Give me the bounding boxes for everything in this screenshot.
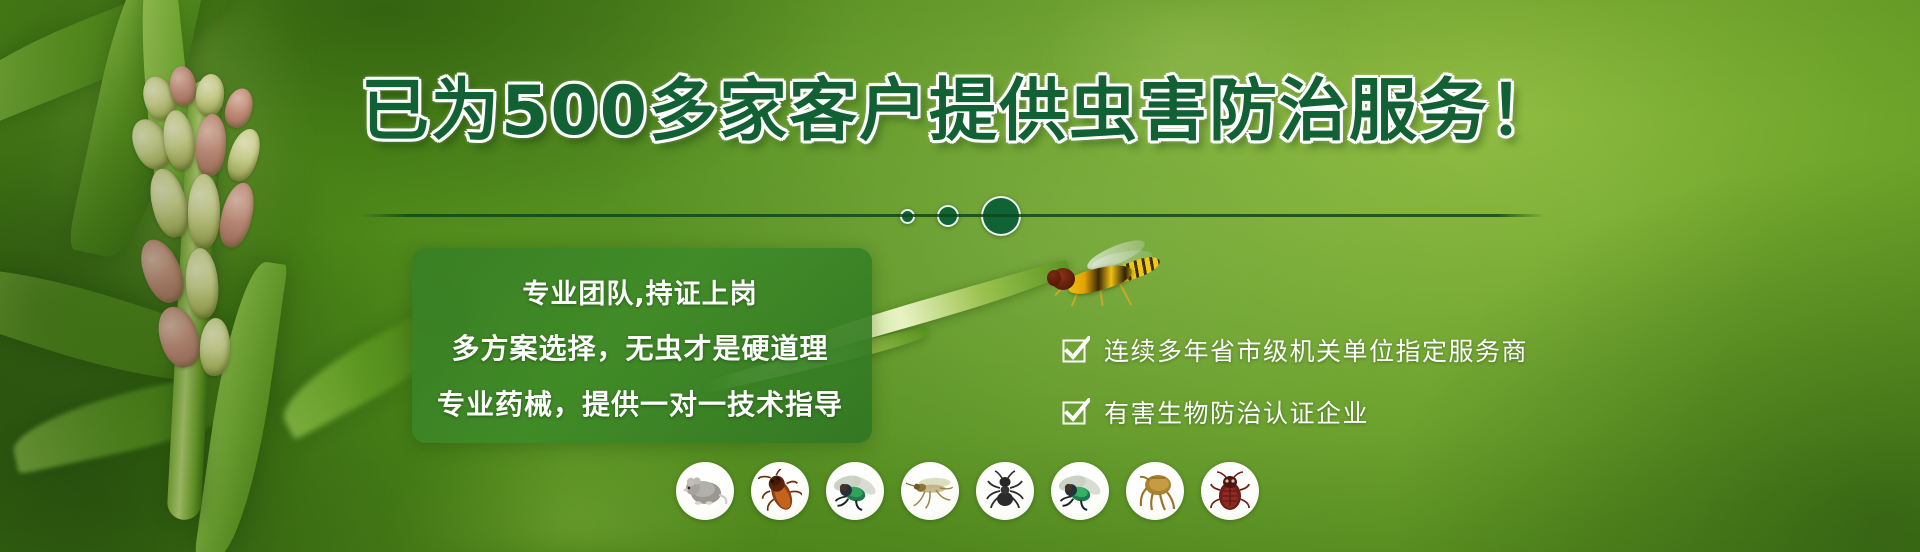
selling-point-1: 专业团队,持证上岗 — [434, 272, 846, 311]
eye-shape — [1047, 270, 1061, 286]
credential-label: 连续多年省市级机关单位指定服务商 — [1104, 332, 1528, 368]
housefly-icon[interactable] — [826, 462, 884, 520]
headline: 已为500多家客户提供虫害防治服务！ — [0, 78, 1920, 146]
selling-points-panel: 专业团队,持证上岗 多方案选择，无虫才是硬道理 专业药械，提供一对一技术指导 — [412, 248, 872, 443]
bedbug-icon[interactable] — [1201, 462, 1259, 520]
hoverfly-photo — [1045, 248, 1163, 306]
list-item: 连续多年省市级机关单位指定服务商 — [1062, 332, 1528, 368]
leg-shape — [1119, 284, 1132, 306]
flea-icon[interactable] — [1126, 462, 1184, 520]
selling-point-3: 专业药械，提供一对一技术指导 — [434, 383, 846, 423]
bud — [184, 247, 221, 319]
bud — [133, 234, 191, 309]
ant-icon[interactable] — [976, 462, 1034, 520]
pest-control-hero-banner: 已为500多家客户提供虫害防治服务！ 专业团队,持证上岗 多方案选择，无虫才是硬… — [0, 0, 1920, 552]
mouse-icon[interactable] — [676, 462, 734, 520]
greenfly-icon[interactable] — [1051, 462, 1109, 520]
selling-point-2: 多方案选择，无虫才是硬道理 — [434, 327, 846, 367]
pest-icon-row — [676, 462, 1259, 520]
cockroach-icon[interactable] — [751, 462, 809, 520]
credential-list: 连续多年省市级机关单位指定服务商 有害生物防治认证企业 — [1062, 332, 1528, 430]
leg-shape — [1099, 288, 1103, 306]
mosquito-icon[interactable] — [901, 462, 959, 520]
checkbox-checked-icon — [1062, 398, 1090, 426]
list-item: 有害生物防治认证企业 — [1062, 394, 1528, 430]
credential-label: 有害生物防治认证企业 — [1104, 394, 1369, 430]
divider — [360, 214, 1545, 217]
checkbox-checked-icon — [1062, 336, 1090, 364]
